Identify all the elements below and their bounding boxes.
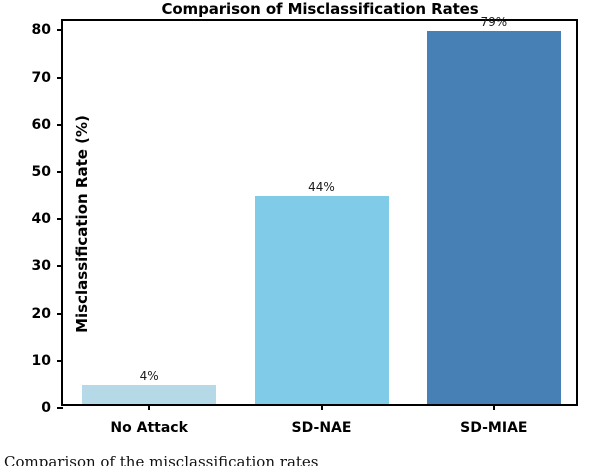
x-tick-mark [148, 404, 150, 410]
y-tick-mark [57, 29, 63, 31]
caption-sliver: Comparison of the misclassification rate… [0, 455, 606, 466]
y-tick-label: 50 [11, 162, 51, 182]
x-tick-mark [321, 404, 323, 410]
x-tick-label: No Attack [59, 420, 239, 436]
y-tick-mark [57, 77, 63, 79]
bar-value-label: 4% [42, 369, 256, 383]
y-tick-label: 10 [11, 351, 51, 371]
plot-inner: Misclassification Rate (%) 0102030405060… [63, 21, 576, 404]
x-tick-mark [493, 404, 495, 410]
y-axis-label: Misclassification Rate (%) [73, 74, 91, 374]
caption-text: Comparison of the misclassification rate… [4, 455, 319, 466]
y-tick-mark [57, 124, 63, 126]
x-tick-label: SD-NAE [232, 420, 412, 436]
y-tick-label: 70 [11, 68, 51, 88]
y-tick-label: 80 [11, 20, 51, 40]
y-tick-label: 60 [11, 115, 51, 135]
bar-value-label: 79% [387, 15, 601, 29]
y-tick-label: 20 [11, 304, 51, 324]
plot-area: Misclassification Rate (%) 0102030405060… [61, 19, 578, 406]
figure-canvas: Comparison of Misclassification Rates Mi… [0, 0, 606, 466]
y-tick-mark [57, 407, 63, 409]
y-tick-label: 0 [11, 398, 51, 418]
bar-value-label: 44% [215, 180, 429, 194]
bar-no-attack: 4% [82, 385, 216, 404]
y-tick-mark [57, 171, 63, 173]
bar-sd-miae: 79% [427, 31, 561, 404]
y-tick-mark [57, 265, 63, 267]
y-tick-mark [57, 360, 63, 362]
y-tick-mark [57, 313, 63, 315]
y-tick-label: 30 [11, 256, 51, 276]
x-tick-label: SD-MIAE [404, 420, 584, 436]
bar-sd-nae: 44% [255, 196, 389, 404]
y-tick-mark [57, 218, 63, 220]
y-tick-label: 40 [11, 209, 51, 229]
